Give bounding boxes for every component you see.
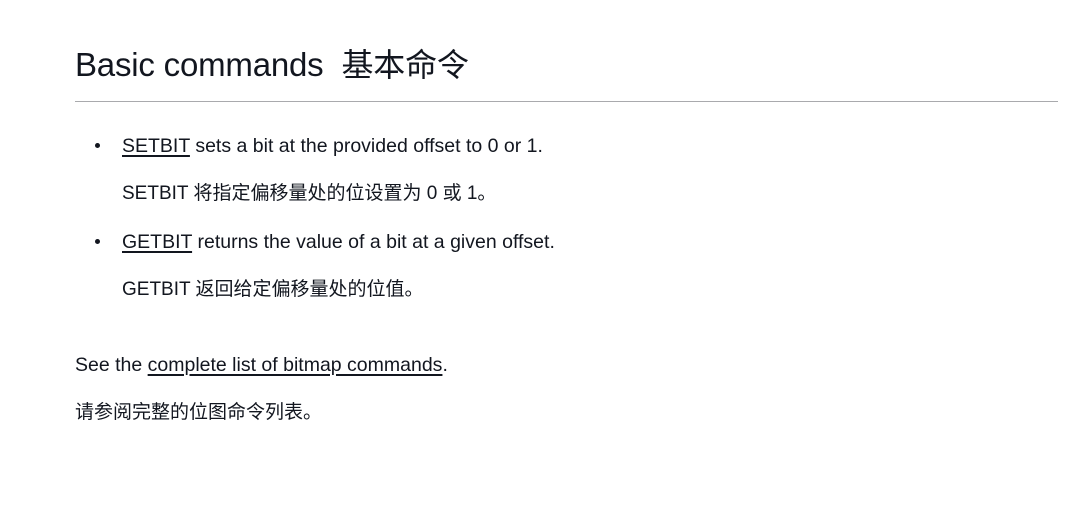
document-page: Basic commands基本命令 SETBIT sets a bit at … — [0, 0, 1072, 524]
footer-note-zh: 请参阅完整的位图命令列表。 — [75, 400, 1058, 425]
footer-prefix-text: See the — [75, 354, 148, 376]
page-title-en: Basic commands — [75, 46, 323, 83]
command-link-getbit[interactable]: GETBIT — [122, 231, 192, 253]
command-description-en: sets a bit at the provided offset to 0 o… — [190, 135, 543, 157]
command-link-setbit[interactable]: SETBIT — [122, 135, 190, 157]
command-list: SETBIT sets a bit at the provided offset… — [75, 102, 1058, 303]
bullet-icon — [95, 143, 100, 148]
list-item: GETBIT returns the value of a bit at a g… — [75, 229, 1058, 303]
list-item: SETBIT sets a bit at the provided offset… — [75, 133, 1058, 207]
bitmap-commands-link[interactable]: complete list of bitmap commands — [148, 354, 443, 376]
page-title-zh: 基本命令 — [341, 47, 468, 83]
command-line-zh: GETBIT 返回给定偏移量处的位值。 — [122, 277, 1058, 302]
bullet-icon — [95, 239, 100, 244]
command-line-zh: SETBIT 将指定偏移量处的位设置为 0 或 1。 — [122, 181, 1058, 206]
footer-suffix-text: . — [442, 354, 447, 376]
footer-note: See the complete list of bitmap commands… — [75, 303, 1058, 426]
command-line-en: GETBIT returns the value of a bit at a g… — [122, 229, 1058, 255]
page-title: Basic commands基本命令 — [75, 0, 1058, 87]
command-line-en: SETBIT sets a bit at the provided offset… — [122, 133, 1058, 159]
footer-note-en: See the complete list of bitmap commands… — [75, 352, 1058, 378]
command-description-en: returns the value of a bit at a given of… — [192, 231, 555, 253]
